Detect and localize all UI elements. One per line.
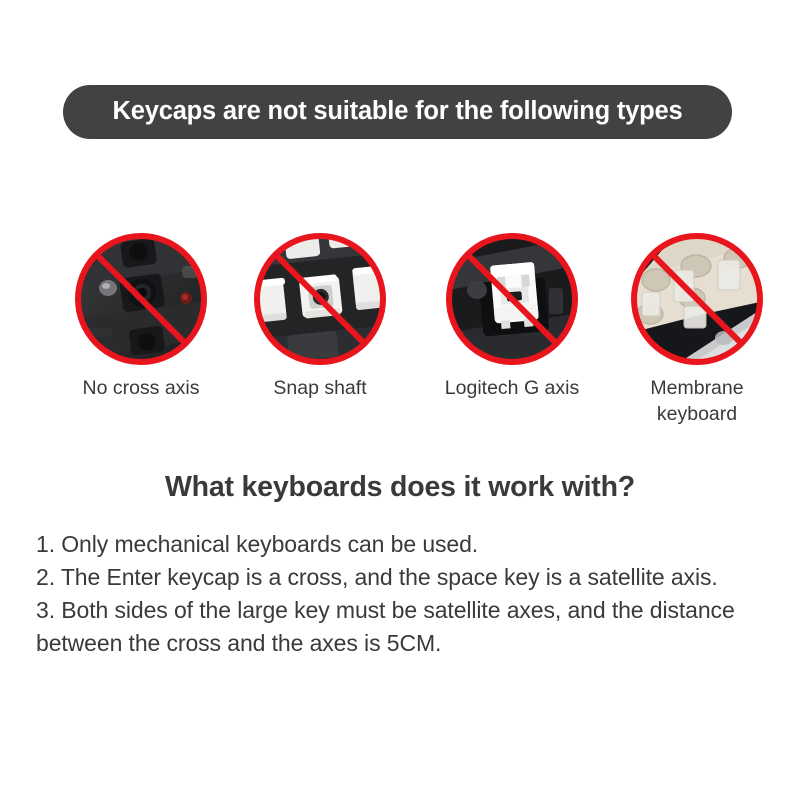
incompatible-item-no-cross-axis: No cross axis (53, 232, 229, 402)
incompatible-item-membrane-keyboard: Membrane keyboard (609, 232, 785, 427)
infographic-page: Keycaps are not suitable for the followi… (0, 0, 800, 800)
incompatible-item-label: Logitech G axis (424, 376, 600, 402)
faq-list-item: 3. Both sides of the large key must be s… (36, 594, 766, 660)
white-snap-shaft-switches-photo (257, 236, 383, 362)
prohibited-thumbnail (253, 232, 387, 366)
banner-title: Keycaps are not suitable for the followi… (113, 99, 683, 125)
prohibited-thumbnail (630, 232, 764, 366)
prohibited-thumbnail (445, 232, 579, 366)
incompatible-item-label: Snap shaft (232, 376, 408, 402)
incompatible-types-row: No cross axis (0, 232, 800, 442)
prohibited-thumbnail (74, 232, 208, 366)
faq-list-item: 2. The Enter keycap is a cross, and the … (36, 561, 766, 594)
incompatible-item-label: No cross axis (53, 376, 229, 402)
incompatible-item-label: Membrane keyboard (609, 376, 785, 427)
logitech-romer-g-switch-photo (449, 236, 575, 362)
faq-heading: What keyboards does it work with? (0, 471, 800, 504)
membrane-keyboard-rubber-domes-photo (634, 236, 760, 362)
incompatible-item-logitech-g-axis: Logitech G axis (424, 232, 600, 402)
incompatible-item-label-line1: Membrane (609, 376, 785, 402)
header-banner: Keycaps are not suitable for the followi… (63, 85, 732, 139)
incompatible-item-label-line2: keyboard (609, 402, 785, 428)
dark-keyboard-switch-housings-photo (78, 236, 204, 362)
incompatible-item-snap-shaft: Snap shaft (232, 232, 408, 402)
faq-list: 1. Only mechanical keyboards can be used… (36, 528, 766, 660)
faq-list-item: 1. Only mechanical keyboards can be used… (36, 528, 766, 561)
